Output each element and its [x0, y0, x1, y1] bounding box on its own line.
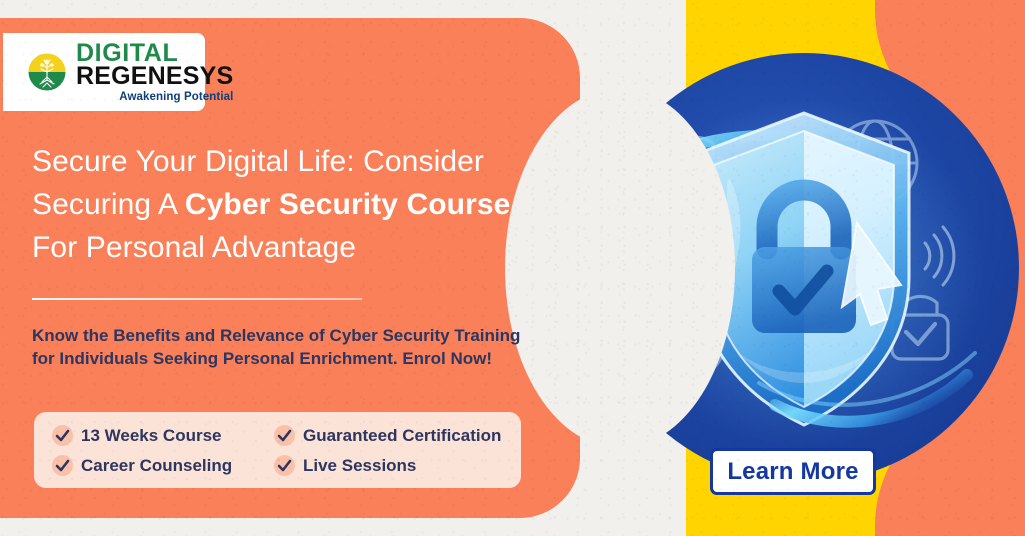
page-title: Secure Your Digital Life: Consider Secur… — [32, 140, 542, 269]
list-item: Career Counseling — [52, 450, 274, 480]
learn-more-button[interactable]: Learn More — [710, 448, 876, 495]
subheading: Know the Benefits and Relevance of Cyber… — [32, 325, 527, 370]
logo-wordmark: DIGITAL REGENESYS Awakening Potential — [76, 41, 233, 104]
brand-logo[interactable]: DIGITAL REGENESYS Awakening Potential — [3, 33, 205, 111]
logo-word-regenesys: REGENESYS — [76, 64, 233, 89]
list-item: 13 Weeks Course — [52, 420, 274, 450]
check-icon — [274, 455, 295, 476]
check-icon — [52, 455, 73, 476]
headline-emphasis: Cyber Security Course — [185, 188, 511, 221]
list-item: Guaranteed Certification — [274, 420, 521, 450]
tree-circle-icon — [27, 52, 67, 92]
headline-line-1: Secure Your Digital Life: Consider — [32, 145, 484, 178]
divider — [32, 298, 362, 300]
check-icon — [274, 425, 295, 446]
feature-label: Live Sessions — [303, 457, 416, 474]
feature-label: Career Counseling — [81, 457, 232, 474]
headline-line-2-prefix: Securing A — [32, 188, 185, 221]
feature-label: 13 Weeks Course — [81, 427, 221, 444]
list-item: Live Sessions — [274, 450, 521, 480]
features-list: 13 Weeks Course Guaranteed Certification… — [34, 412, 521, 488]
headline-line-3: For Personal Advantage — [32, 231, 356, 264]
feature-label: Guaranteed Certification — [303, 427, 501, 444]
logo-tagline: Awakening Potential — [76, 92, 233, 104]
promo-banner: DIGITAL REGENESYS Awakening Potential Se… — [0, 0, 1025, 536]
check-icon — [52, 425, 73, 446]
